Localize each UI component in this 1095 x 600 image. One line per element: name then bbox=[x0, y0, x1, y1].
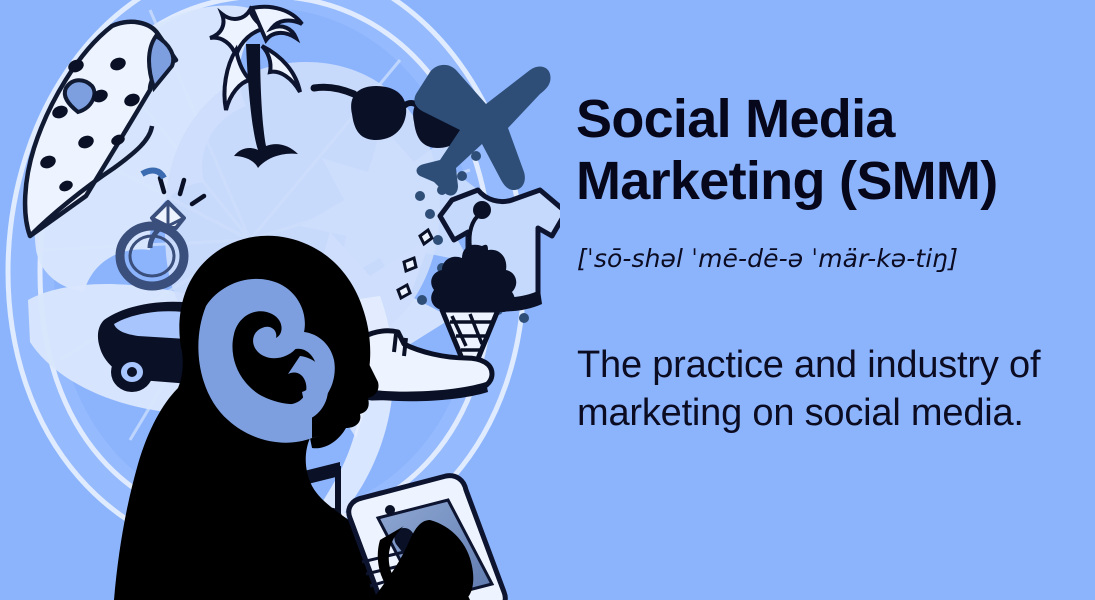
definition-text: The practice and industry of marketing o… bbox=[577, 341, 1057, 437]
definition-text-column: Social Media Marketing (SMM) [ˈsō-shəl ˈ… bbox=[576, 0, 1076, 600]
smm-illustration bbox=[0, 0, 560, 600]
pronunciation-text: [ˈsō-shəl ˈmē-dē-ə ˈmär-kə-tiŋ] bbox=[577, 243, 958, 275]
page-title: Social Media Marketing (SMM) bbox=[576, 88, 1076, 212]
smm-definition-card: Social Media Marketing (SMM) [ˈsō-shəl ˈ… bbox=[0, 0, 1095, 600]
